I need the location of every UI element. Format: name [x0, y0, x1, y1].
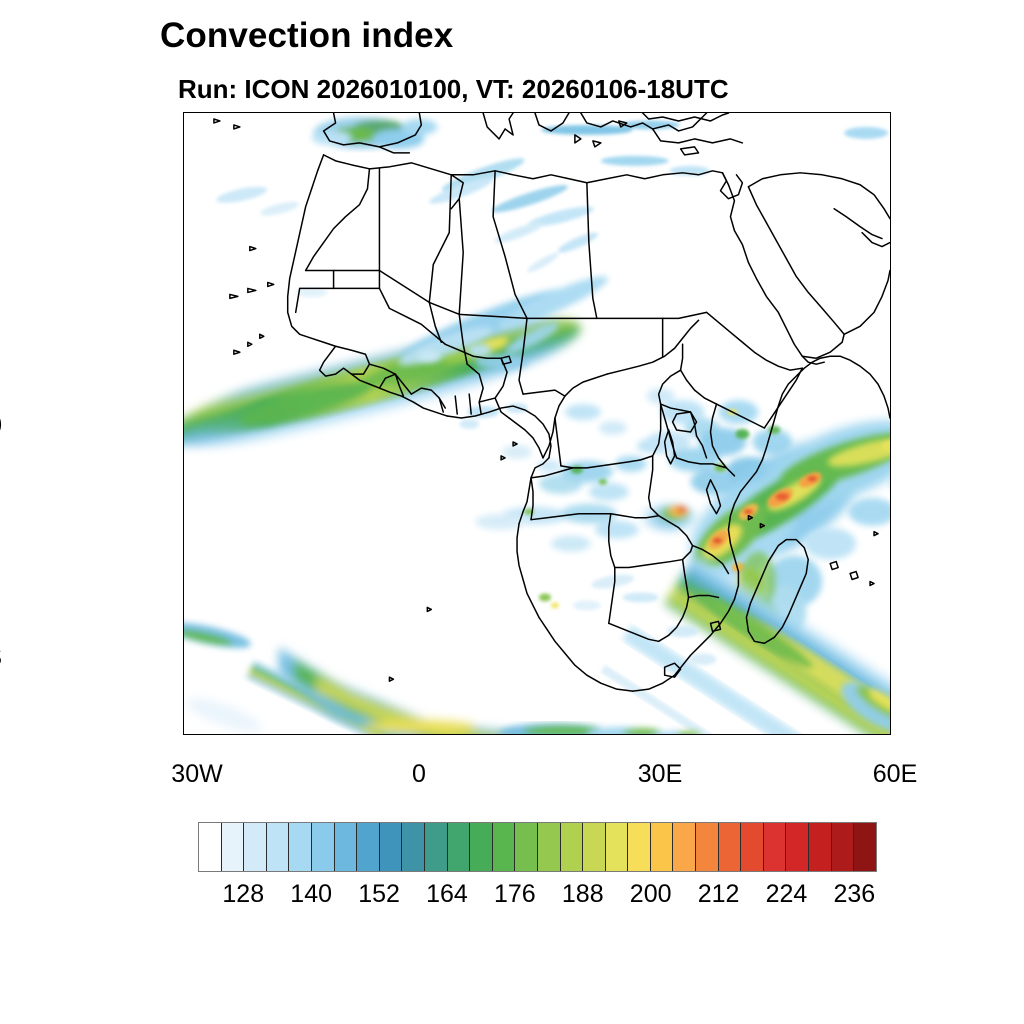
ylabel-30n: 30N [0, 177, 2, 206]
xtick-30e [656, 734, 658, 735]
colorbar-tick-label: 140 [290, 880, 332, 909]
xtick-30w [184, 734, 186, 735]
colorbar-cell [425, 823, 448, 871]
colorbar-cell [651, 823, 674, 871]
ytick-right-30n [890, 192, 891, 194]
ytick-right-0 [890, 427, 891, 429]
colorbar-cell [493, 823, 516, 871]
xtick-minor-20w [263, 734, 265, 735]
colorbar-cell [357, 823, 380, 871]
colorbar-cell [628, 823, 651, 871]
xlabel-0: 0 [412, 760, 426, 789]
colorbar-tick-label: 176 [494, 880, 536, 909]
colorbar-cell [764, 823, 787, 871]
colorbar-tick-label: 212 [698, 880, 740, 909]
xtick-minor-10w [341, 734, 343, 735]
colorbar-cell [832, 823, 855, 871]
colorbar-cell [606, 823, 629, 871]
page-title: Convection index [160, 16, 453, 56]
colorbar-cell [696, 823, 719, 871]
colorbar-cell [741, 823, 764, 871]
ytick-minor-15n [183, 310, 184, 312]
xtick-minor-50e [813, 734, 815, 735]
colorbar-cell [673, 823, 696, 871]
ytick-30n [183, 192, 184, 194]
xtick-60e [890, 734, 891, 735]
xtick-minor-20e [577, 734, 579, 735]
colorbar-cell [809, 823, 832, 871]
colorbar-tick-label: 128 [222, 880, 264, 909]
colorbar-tick-label: 224 [766, 880, 808, 909]
ytick-30s [183, 659, 184, 661]
ytick-right-minor-15s [890, 543, 891, 545]
ytick-minor-40n [183, 121, 184, 123]
ytick-0 [183, 427, 184, 429]
colorbar-cell [448, 823, 471, 871]
colorbar-cell [470, 823, 493, 871]
xtick-top-minor-50e [813, 112, 815, 113]
xlabel-30w: 30W [171, 760, 222, 789]
xlabel-30e: 30E [638, 760, 682, 789]
ytick-right-minor-15n [890, 310, 891, 312]
colorbar-cell [538, 823, 561, 871]
colorbar-tick-label: 164 [426, 880, 468, 909]
colorbar-cell [267, 823, 290, 871]
colorbar-cell [854, 823, 876, 871]
colorbar-tick-label: 236 [834, 880, 876, 909]
coastline-overlay [184, 113, 890, 734]
colorbar-tick-label: 152 [358, 880, 400, 909]
xtick-minor-10e [499, 734, 501, 735]
colorbar-cell [199, 823, 222, 871]
colorbar-cell [515, 823, 538, 871]
colorbar-tick-label: 188 [562, 880, 604, 909]
xtick-top-minor-10e [499, 112, 501, 113]
ytick-minor-15s [183, 543, 184, 545]
colorbar-cell [583, 823, 606, 871]
colorbar-cell [561, 823, 584, 871]
colorbar-cell [786, 823, 809, 871]
colorbar-labels: 128140152164176188200212224236 [0, 880, 1024, 920]
xtick-top-minor-40e [735, 112, 737, 113]
colorbar-cell [222, 823, 245, 871]
colorbar-cell [289, 823, 312, 871]
ytick-right-30s [890, 659, 891, 661]
colorbar-cell [244, 823, 267, 871]
xtick-top-minor-20w [263, 112, 265, 113]
page-subtitle: Run: ICON 2026010100, VT: 20260106-18UTC [178, 74, 729, 105]
xlabel-60e: 60E [873, 760, 917, 789]
colorbar-cell [335, 823, 358, 871]
xtick-top-minor-10w [341, 112, 343, 113]
ylabel-0: 0 [0, 412, 2, 441]
colorbar-cell [380, 823, 403, 871]
colorbar[interactable] [198, 822, 877, 872]
colorbar-cell [719, 823, 742, 871]
colorbar-cell [402, 823, 425, 871]
colorbar-tick-label: 200 [630, 880, 672, 909]
map-plot-area[interactable] [183, 112, 891, 735]
ylabel-30s: 30S [0, 644, 2, 673]
xtick-top-minor-20e [577, 112, 579, 113]
xtick-minor-40e [735, 734, 737, 735]
colorbar-cell [312, 823, 335, 871]
xtick-0 [420, 734, 422, 735]
